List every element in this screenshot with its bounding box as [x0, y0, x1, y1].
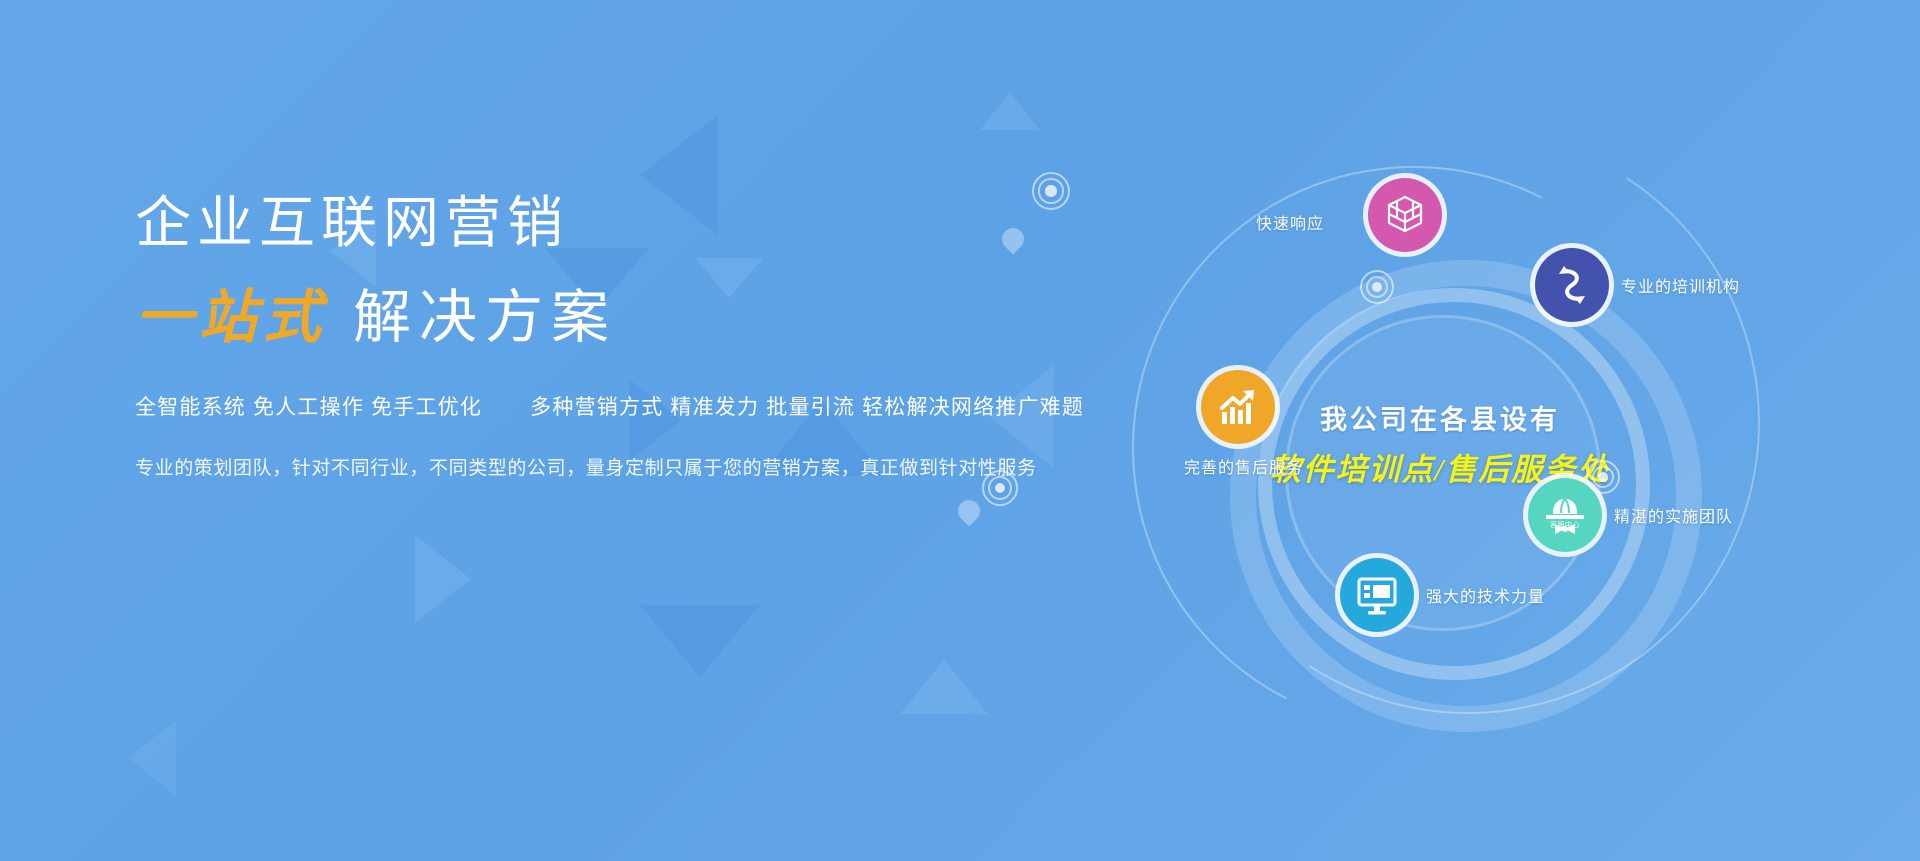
- cube-icon: [1368, 178, 1442, 252]
- subtitle-1-part-1: 全智能系统 免人工操作 免手工优化: [135, 396, 482, 419]
- copy-block: 企业互联网营销 一站式解决方案 全智能系统 免人工操作 免手工优化 多种营销方式…: [135, 190, 1035, 480]
- decor-triangle: [900, 660, 988, 714]
- target-ring-icon: [1360, 270, 1394, 304]
- feature-node-label: 完善的售后服务: [1184, 454, 1303, 478]
- monitor-icon: [1340, 558, 1414, 632]
- page-title: 企业互联网营销: [135, 190, 1035, 256]
- target-ring-icon: [1032, 172, 1070, 210]
- decor-triangle: [640, 605, 760, 677]
- feature-node-label: 强大的技术力量: [1426, 583, 1545, 607]
- feature-node-implementation-team[interactable]: 客服中心 精湛的实施团队: [1528, 478, 1733, 552]
- growth-chart-icon: [1201, 370, 1275, 444]
- feature-node-after-sales[interactable]: 完善的售后服务: [1172, 370, 1303, 478]
- subtitle-1-part-2: 多种营销方式 精准发力 批量引流 轻松解决网络推广难题: [530, 396, 1084, 419]
- feature-node-label: 专业的培训机构: [1621, 273, 1740, 297]
- service-hat-badge-text: 客服中心: [1528, 520, 1602, 530]
- target-ring-inner: [988, 476, 1012, 500]
- subtitle-line-1: 全智能系统 免人工操作 免手工优化 多种营销方式 精准发力 批量引流 轻松解决网…: [135, 391, 1035, 421]
- target-ring-inner: [1366, 276, 1389, 299]
- decor-triangle: [415, 535, 471, 623]
- location-pin-icon: [953, 495, 984, 526]
- feature-node-label: 快速响应: [1256, 210, 1324, 234]
- target-ring-icon: [982, 470, 1018, 506]
- route-arrow-icon: [1535, 248, 1609, 322]
- headline-secondary: 一站式解决方案: [135, 284, 1035, 352]
- headline-rest-text: 解决方案: [353, 285, 617, 350]
- subtitle-line-2: 专业的策划团队，针对不同行业，不同类型的公司，量身定制只属于您的营销方案，真正做…: [135, 453, 1035, 480]
- feature-node-technical-strength[interactable]: 强大的技术力量: [1340, 558, 1545, 632]
- hero-graphic: 我公司在各县设有 软件培训点/售后服务处: [1080, 70, 1920, 790]
- feature-node-quick-response[interactable]: 快速响应: [1368, 178, 1442, 252]
- decor-triangle: [128, 720, 176, 796]
- feature-node-training-agency[interactable]: 专业的培训机构: [1535, 248, 1740, 322]
- marketing-banner: 企业互联网营销 一站式解决方案 全智能系统 免人工操作 免手工优化 多种营销方式…: [0, 0, 1920, 861]
- service-hat-icon: 客服中心: [1528, 478, 1602, 552]
- feature-node-label: 精湛的实施团队: [1614, 503, 1733, 527]
- headline-accent-text: 一站式: [135, 285, 327, 350]
- target-ring-inner: [1038, 178, 1063, 203]
- decor-triangle: [980, 92, 1040, 130]
